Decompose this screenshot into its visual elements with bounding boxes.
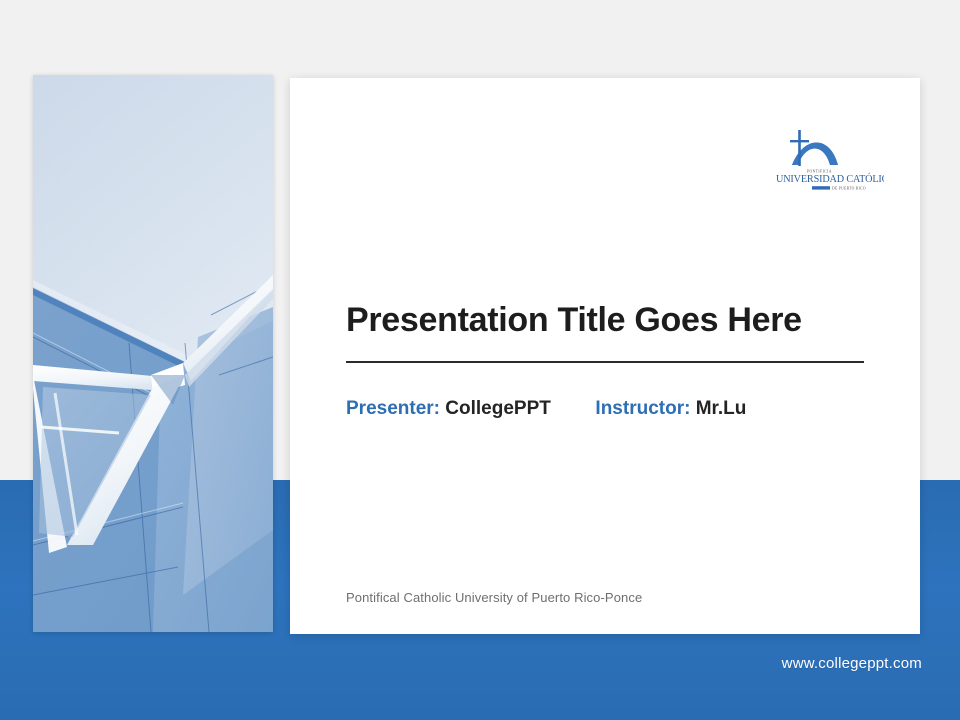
presenter-label: Presenter: bbox=[346, 398, 440, 419]
logo-sub-text: DE PUERTO RICO bbox=[832, 186, 866, 190]
logo-top-text: PONTIFICIA bbox=[807, 170, 832, 174]
university-logo: PONTIFICIA UNIVERSIDAD CATÓLICA DE PUERT… bbox=[774, 125, 884, 193]
card-footer-text: Pontifical Catholic University of Puerto… bbox=[346, 590, 642, 605]
instructor-value: Mr.Lu bbox=[696, 398, 747, 419]
logo-main-text: UNIVERSIDAD CATÓLICA bbox=[776, 173, 884, 185]
architecture-photo-illustration bbox=[33, 75, 273, 632]
slide-content-card: PONTIFICIA UNIVERSIDAD CATÓLICA DE PUERT… bbox=[290, 78, 920, 634]
title-block: Presentation Title Goes Here bbox=[346, 302, 864, 363]
architecture-photo bbox=[33, 75, 273, 632]
credits-line: Presenter: CollegePPT Instructor: Mr.Lu bbox=[346, 398, 746, 420]
presentation-slide: www.collegeppt.com bbox=[0, 0, 960, 720]
website-url: www.collegeppt.com bbox=[782, 655, 922, 672]
page-title: Presentation Title Goes Here bbox=[346, 302, 864, 339]
title-divider bbox=[346, 361, 864, 363]
instructor-label: Instructor: bbox=[595, 398, 690, 419]
presenter-value: CollegePPT bbox=[445, 398, 551, 419]
university-logo-mark: PONTIFICIA UNIVERSIDAD CATÓLICA DE PUERT… bbox=[774, 125, 884, 193]
